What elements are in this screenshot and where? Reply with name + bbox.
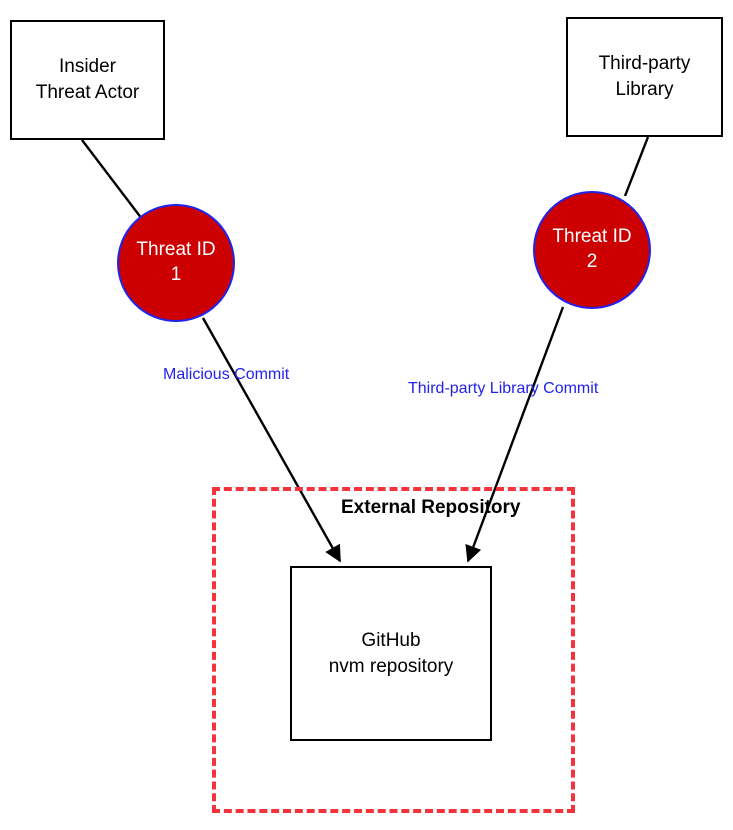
- node-third-party-library[interactable]: Third-party Library: [566, 17, 723, 137]
- edge-insider-to-threat1: [82, 140, 142, 219]
- edge-label-malicious-commit: Malicious Commit: [163, 366, 289, 384]
- node-insider-threat-actor[interactable]: Insider Threat Actor: [10, 20, 165, 140]
- node-threat-id-2[interactable]: Threat ID 2: [533, 191, 651, 309]
- group-title-external-repository: External Repository: [341, 497, 521, 519]
- node-threat-id-1[interactable]: Threat ID 1: [117, 204, 235, 322]
- edge-library-to-threat2: [625, 137, 648, 196]
- edge-label-third-party-library-commit: Third-party Library Commit: [408, 380, 598, 398]
- node-github-nvm-repository[interactable]: GitHub nvm repository: [290, 566, 492, 741]
- diagram-canvas: External Repository Insider Threat Actor…: [0, 0, 733, 830]
